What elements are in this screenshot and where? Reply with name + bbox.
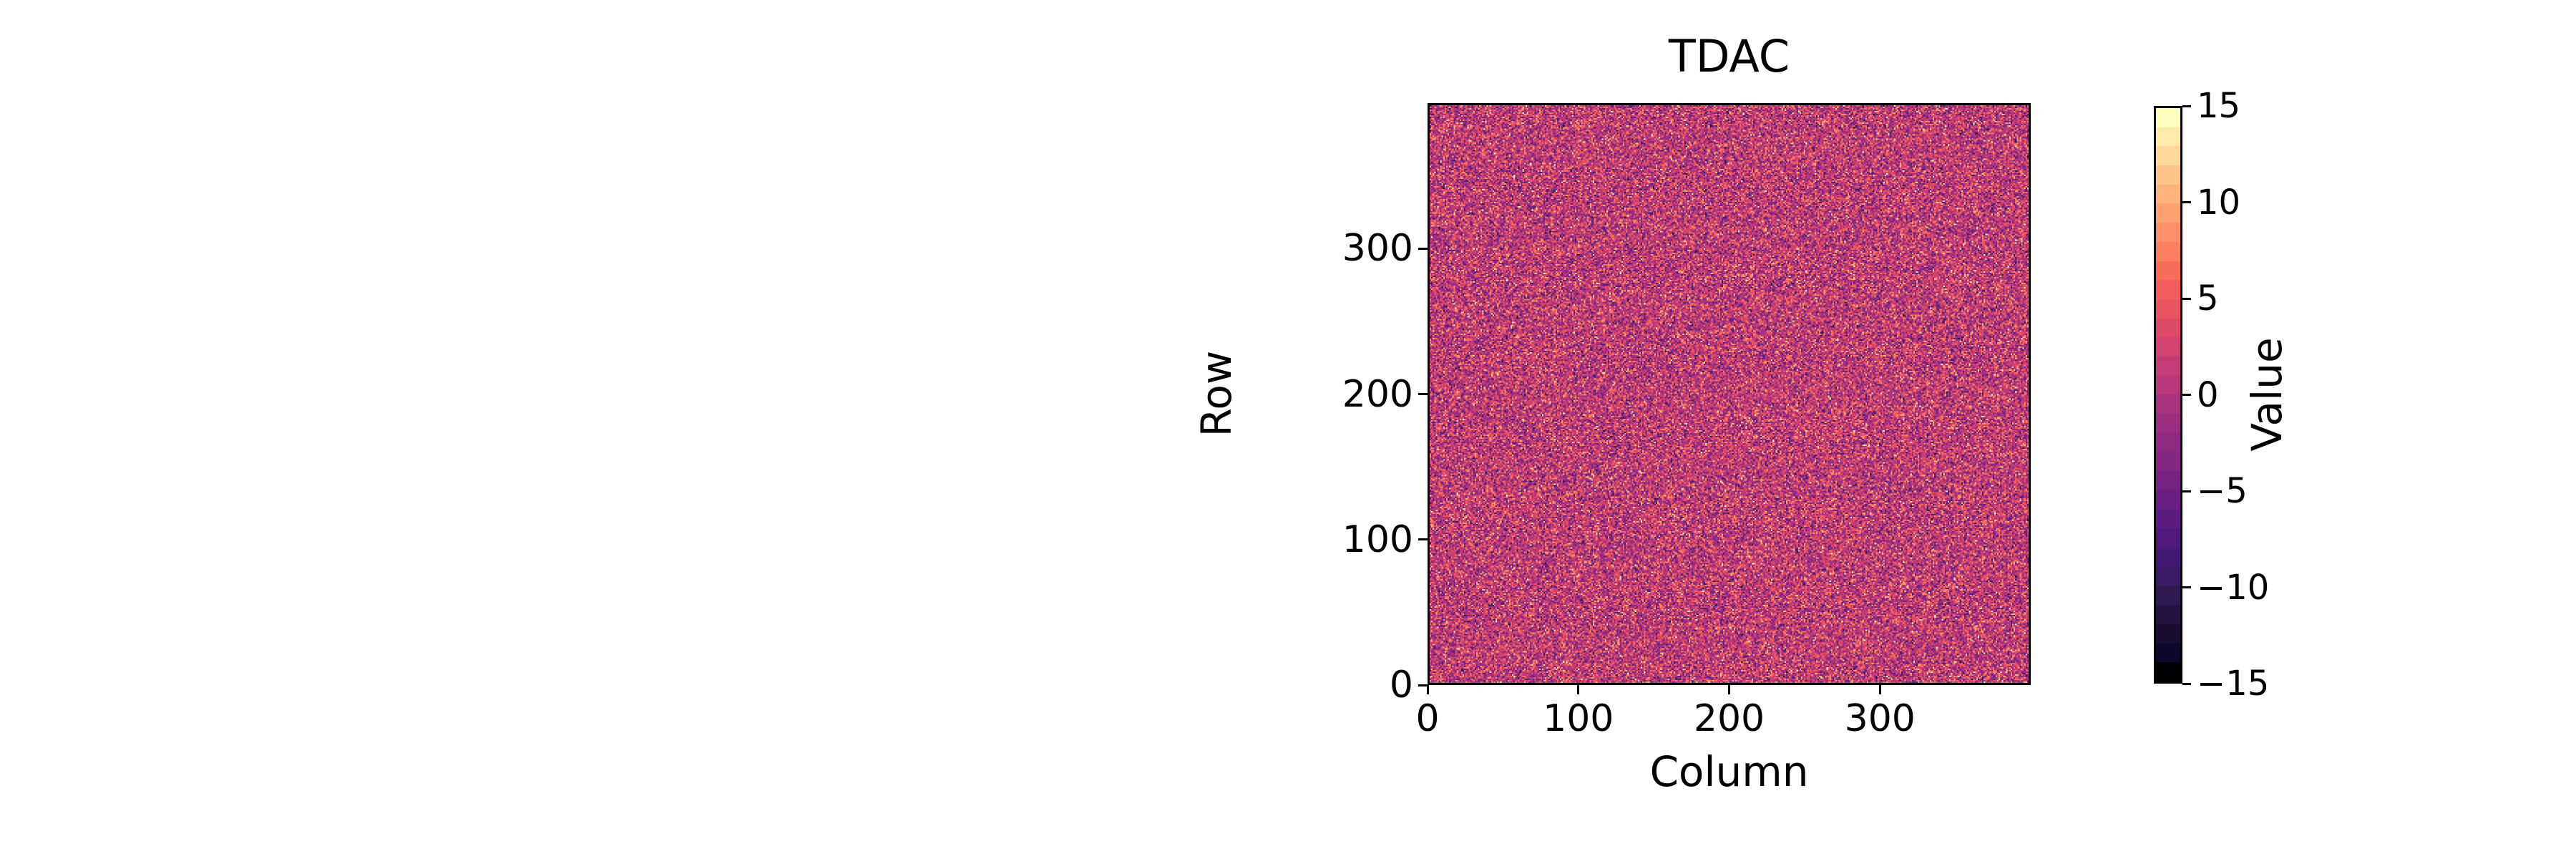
x-tick-label: 300 xyxy=(1808,700,1951,737)
colorbar-band xyxy=(2156,528,2180,548)
colorbar-tick-mark xyxy=(2182,105,2191,107)
colorbar-band xyxy=(2156,490,2180,510)
colorbar-band xyxy=(2156,261,2180,281)
colorbar-tick-label: 10 xyxy=(2197,185,2297,220)
y-axis-label: Row xyxy=(1192,351,1241,437)
x-tick-mark xyxy=(1728,685,1730,694)
y-tick-mark xyxy=(1418,393,1428,395)
colorbar-band xyxy=(2156,165,2180,185)
colorbar-band xyxy=(2156,643,2180,662)
x-tick-mark xyxy=(1427,685,1429,694)
colorbar-tick-label: −15 xyxy=(2197,666,2297,701)
colorbar-band xyxy=(2156,223,2180,242)
y-tick-label: 200 xyxy=(1284,376,1413,413)
colorbar-tick-mark xyxy=(2182,683,2191,685)
colorbar-tick-label: −5 xyxy=(2197,474,2297,508)
colorbar-band xyxy=(2156,203,2180,223)
colorbar[interactable] xyxy=(2154,106,2182,684)
figure-canvas: TDAC Row Column 0100200300 0100200300 15… xyxy=(0,0,2576,859)
colorbar-band xyxy=(2156,185,2180,204)
colorbar-band xyxy=(2156,414,2180,433)
colorbar-tick-mark xyxy=(2182,394,2191,396)
colorbar-band xyxy=(2156,509,2180,528)
x-tick-label: 100 xyxy=(1507,700,1650,737)
y-tick-label: 100 xyxy=(1284,521,1413,558)
colorbar-band xyxy=(2156,624,2180,644)
y-tick-label: 0 xyxy=(1284,666,1413,704)
colorbar-band xyxy=(2156,548,2180,567)
heatmap-plot-area[interactable] xyxy=(1428,103,2031,685)
colorbar-tick-mark xyxy=(2182,490,2191,492)
y-tick-label: 300 xyxy=(1284,230,1413,267)
colorbar-band xyxy=(2156,452,2180,471)
colorbar-band xyxy=(2156,433,2180,452)
y-tick-mark xyxy=(1418,248,1428,250)
colorbar-tick-mark xyxy=(2182,586,2191,588)
colorbar-band xyxy=(2156,567,2180,586)
page-title: TDAC xyxy=(1428,34,2031,79)
colorbar-band xyxy=(2156,586,2180,605)
colorbar-band xyxy=(2156,662,2180,681)
colorbar-tick-label: 15 xyxy=(2197,89,2297,123)
colorbar-band xyxy=(2156,337,2180,356)
y-tick-mark xyxy=(1418,538,1428,540)
x-tick-label: 0 xyxy=(1356,700,1499,737)
colorbar-tick-label: −10 xyxy=(2197,571,2297,605)
heatmap-image xyxy=(1430,105,2029,683)
colorbar-band xyxy=(2156,319,2180,338)
colorbar-band xyxy=(2156,471,2180,490)
colorbar-tick-mark xyxy=(2182,298,2191,300)
colorbar-band xyxy=(2156,108,2180,127)
colorbar-band xyxy=(2156,280,2180,299)
x-tick-mark xyxy=(1879,685,1881,694)
colorbar-band xyxy=(2156,605,2180,624)
colorbar-tick-mark xyxy=(2182,201,2191,203)
colorbar-band xyxy=(2156,242,2180,261)
x-tick-label: 200 xyxy=(1658,700,1801,737)
colorbar-band xyxy=(2156,356,2180,376)
colorbar-band xyxy=(2156,127,2180,147)
colorbar-band xyxy=(2156,299,2180,319)
colorbar-tick-label: 5 xyxy=(2197,281,2297,316)
colorbar-band xyxy=(2156,394,2180,414)
colorbar-band xyxy=(2156,376,2180,395)
x-axis-label: Column xyxy=(1428,747,2031,796)
colorbar-band xyxy=(2156,146,2180,165)
x-tick-mark xyxy=(1577,685,1579,694)
colorbar-label: Value xyxy=(2243,337,2291,451)
